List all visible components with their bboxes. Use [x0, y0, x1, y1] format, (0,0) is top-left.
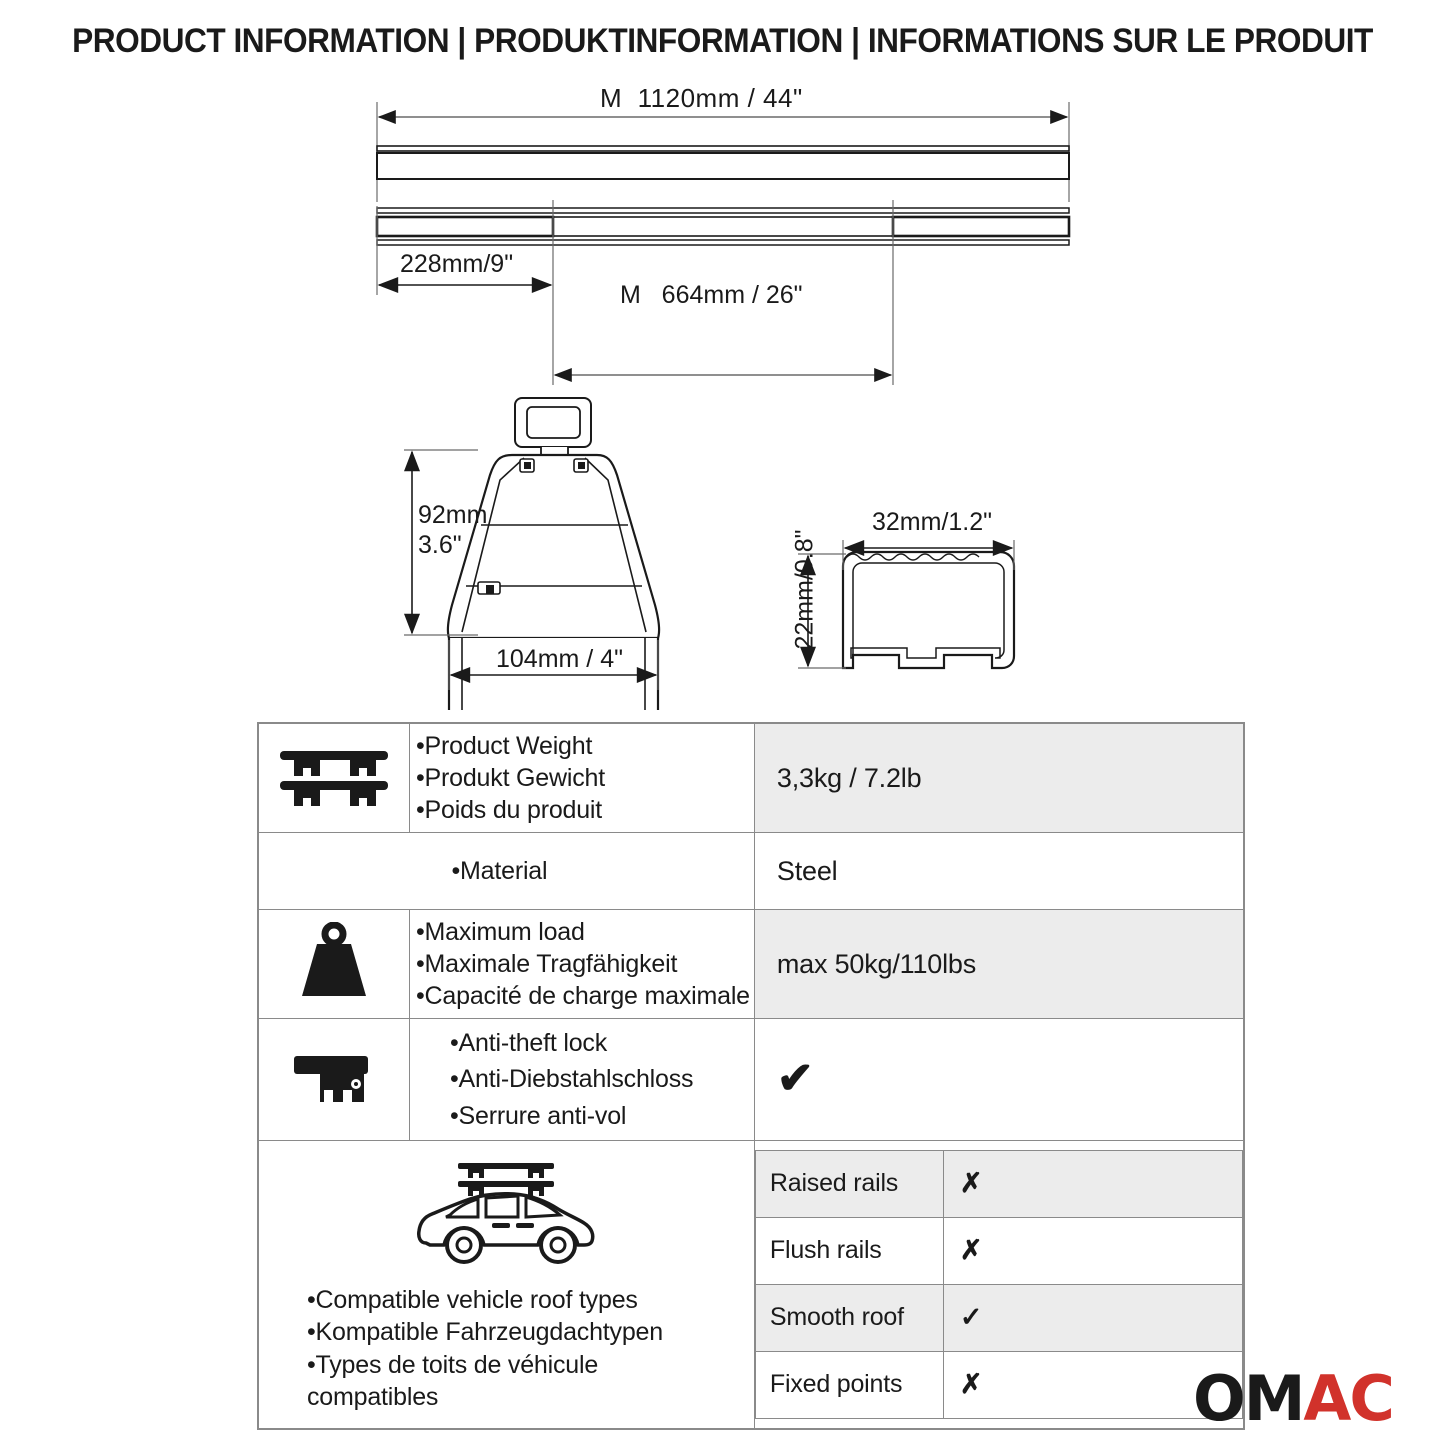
roof-type-mark: ✓ [944, 1302, 1242, 1333]
material-labels-cell: •Material [410, 833, 755, 910]
label-line: •Kompatible Fahrzeugdachtypen [307, 1316, 748, 1349]
roof-type-row: Smooth roof ✓ [755, 1284, 1242, 1351]
material-value-cell: Steel [754, 833, 1244, 910]
label-line: compatibles [307, 1381, 748, 1414]
roof-type-name-cell: Raised rails [755, 1150, 943, 1217]
antitheft-checkmark: ✔ [755, 1057, 1243, 1101]
spec-table: •Product Weight •Produkt Gewicht •Poids … [257, 722, 1245, 1430]
logo-text-om: OM [1193, 1362, 1303, 1435]
maxload-labels-cell: •Maximum load •Maximale Tragfähigkeit •C… [410, 910, 755, 1019]
roof-type-name: Flush rails [756, 1236, 943, 1265]
page-title: PRODUCT INFORMATION | PRODUKTINFORMATION… [51, 22, 1395, 61]
roof-type-name: Raised rails [756, 1169, 943, 1198]
roof-type-mark-cell: ✗ [943, 1217, 1242, 1284]
table-row: •Anti-theft lock •Anti-Diebstahlschloss … [258, 1019, 1244, 1141]
label-line: •Produkt Gewicht [416, 762, 750, 794]
logo-text-ac: AC [1303, 1362, 1392, 1435]
label-line: •Anti-Diebstahlschloss [450, 1061, 750, 1097]
roof-types-table: Raised rails ✗ Flush rails ✗ [755, 1150, 1243, 1419]
roof-type-mark: ✗ [944, 1235, 1242, 1266]
weight-value: 3,3kg / 7.2lb [755, 763, 1243, 794]
maxload-value-cell: max 50kg/110lbs [754, 910, 1244, 1019]
table-row: •Product Weight •Produkt Gewicht •Poids … [258, 723, 1244, 833]
weight-icon [295, 922, 373, 1002]
label-line: •Capacité de charge maximale [416, 980, 750, 1012]
label-line: •Serrure anti-vol [450, 1098, 750, 1134]
lock-icon-cell [258, 1019, 410, 1141]
roof-type-row: Fixed points ✗ [755, 1351, 1242, 1418]
weight-labels-cell: •Product Weight •Produkt Gewicht •Poids … [410, 723, 755, 833]
label-line: •Compatible vehicle roof types [307, 1284, 748, 1317]
roof-bars-icon [274, 743, 394, 809]
label-line: •Poids du produit [416, 794, 750, 826]
roof-type-mark-cell: ✗ [943, 1150, 1242, 1217]
roof-type-name-cell: Flush rails [755, 1217, 943, 1284]
technical-drawing: M 1120mm / 44" 228mm/9" M 664mm / 26" 92… [0, 80, 1445, 710]
lock-icon [286, 1044, 382, 1110]
antitheft-labels-cell: •Anti-theft lock •Anti-Diebstahlschloss … [410, 1019, 755, 1141]
roof-types-matrix-cell: Raised rails ✗ Flush rails ✗ [754, 1140, 1244, 1429]
label-line: •Anti-theft lock [450, 1025, 750, 1061]
weight-value-cell: 3,3kg / 7.2lb [754, 723, 1244, 833]
car-with-rack-icon [406, 1151, 606, 1271]
roof-type-name-cell: Fixed points [755, 1351, 943, 1418]
label-line: •Types de toits de véhicule [307, 1349, 748, 1382]
table-row: •Maximum load •Maximale Tragfähigkeit •C… [258, 910, 1244, 1019]
roof-type-row: Flush rails ✗ [755, 1217, 1242, 1284]
roof-type-mark: ✗ [944, 1168, 1242, 1199]
table-row: •Material Steel [258, 833, 1244, 910]
roof-bars-icon-cell [258, 723, 410, 833]
label-line: •Maximale Tragfähigkeit [416, 948, 750, 980]
maxload-value: max 50kg/110lbs [755, 949, 1243, 980]
label-line: •Maximum load [416, 916, 750, 948]
label-line: •Product Weight [416, 730, 750, 762]
roof-type-row: Raised rails ✗ [755, 1150, 1242, 1217]
roof-type-name: Fixed points [756, 1370, 943, 1399]
material-value: Steel [755, 856, 1243, 887]
roof-type-name: Smooth roof [756, 1303, 943, 1332]
antitheft-value-cell: ✔ [754, 1019, 1244, 1141]
material-icon-cell [258, 833, 410, 910]
weight-icon-cell [258, 910, 410, 1019]
roof-type-name-cell: Smooth roof [755, 1284, 943, 1351]
omac-logo: OMAC [1193, 1362, 1393, 1435]
roof-type-mark-cell: ✓ [943, 1284, 1242, 1351]
table-row-roof-types: •Compatible vehicle roof types •Kompatib… [258, 1140, 1244, 1429]
roof-types-info-cell: •Compatible vehicle roof types •Kompatib… [258, 1140, 754, 1429]
label-line: •Material [452, 855, 750, 887]
